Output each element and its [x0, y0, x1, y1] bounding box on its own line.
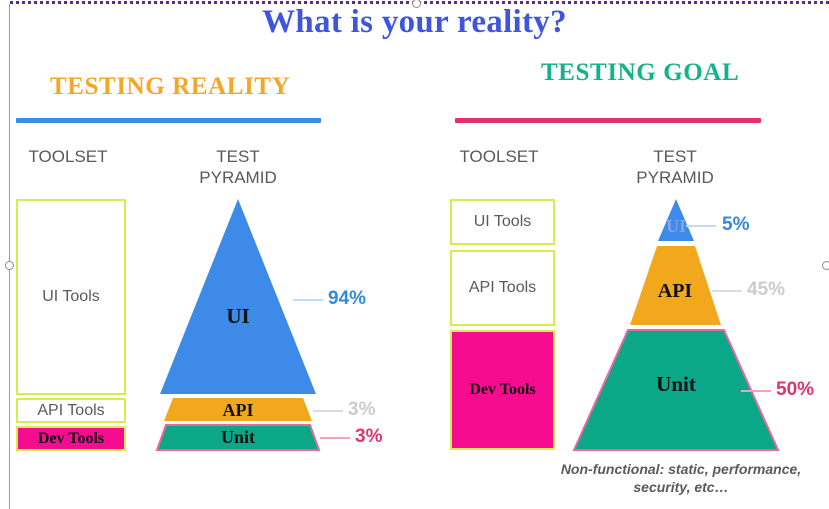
right-toolbox-ui-tools[interactable]: UI Tools — [450, 199, 555, 245]
right-ui-percent: 5% — [722, 214, 749, 236]
left-panel-rule — [16, 118, 321, 123]
left-pyramid-caption: TEST PYRAMID — [173, 146, 303, 188]
selection-border-left — [9, 4, 10, 509]
left-toolset-caption: TOOLSET — [3, 146, 133, 167]
left-api-percent: 3% — [348, 399, 375, 421]
right-unit-percent: 50% — [776, 379, 814, 401]
resize-handle-left[interactable] — [5, 261, 14, 270]
right-panel-heading: TESTING GOAL — [541, 59, 739, 87]
left-tier-api-label: API — [198, 400, 278, 421]
left-toolbox-ui-tools[interactable]: UI Tools — [16, 199, 126, 395]
right-api-percent: 45% — [747, 279, 785, 301]
resize-handle-right[interactable] — [822, 261, 829, 270]
left-unit-percent: 3% — [355, 426, 382, 448]
right-tier-unit-label: Unit — [641, 372, 711, 397]
right-panel-rule — [455, 118, 761, 123]
right-toolbox-dev-tools-label: Dev Tools — [469, 381, 535, 399]
left-toolbox-api-tools-label: API Tools — [37, 402, 104, 420]
left-toolbox-dev-tools-label: Dev Tools — [38, 430, 104, 448]
right-toolbox-ui-tools-label: UI Tools — [474, 213, 532, 231]
left-toolbox-api-tools[interactable]: API Tools — [16, 398, 126, 423]
right-api-leader-line — [712, 290, 742, 292]
left-ui-leader-line — [293, 299, 323, 301]
right-panel-footnote: Non-functional: static, performance, sec… — [551, 460, 811, 496]
right-tier-api-label: API — [645, 280, 705, 303]
left-ui-percent: 94% — [328, 288, 366, 310]
right-ui-leader-line — [686, 225, 716, 227]
page-title: What is your reality? — [0, 4, 829, 41]
left-tier-unit-label: Unit — [198, 427, 278, 448]
left-panel-heading: TESTING REALITY — [50, 73, 290, 101]
slide-canvas: What is your reality? TESTING REALITY TE… — [0, 0, 829, 509]
right-toolbox-dev-tools[interactable]: Dev Tools — [450, 330, 555, 450]
left-toolbox-ui-tools-label: UI Tools — [42, 288, 100, 306]
right-toolbox-api-tools[interactable]: API Tools — [450, 250, 555, 326]
right-unit-leader-line — [741, 390, 771, 392]
left-toolbox-dev-tools[interactable]: Dev Tools — [16, 426, 126, 451]
right-toolset-caption: TOOLSET — [434, 146, 564, 167]
left-tier-ui-label: UI — [198, 304, 278, 329]
left-unit-leader-line — [320, 437, 350, 439]
right-pyramid-caption: TEST PYRAMID — [610, 146, 740, 188]
left-api-leader-line — [313, 410, 343, 412]
right-toolbox-api-tools-label: API Tools — [469, 279, 536, 297]
left-tier-ui-shape — [160, 199, 316, 394]
